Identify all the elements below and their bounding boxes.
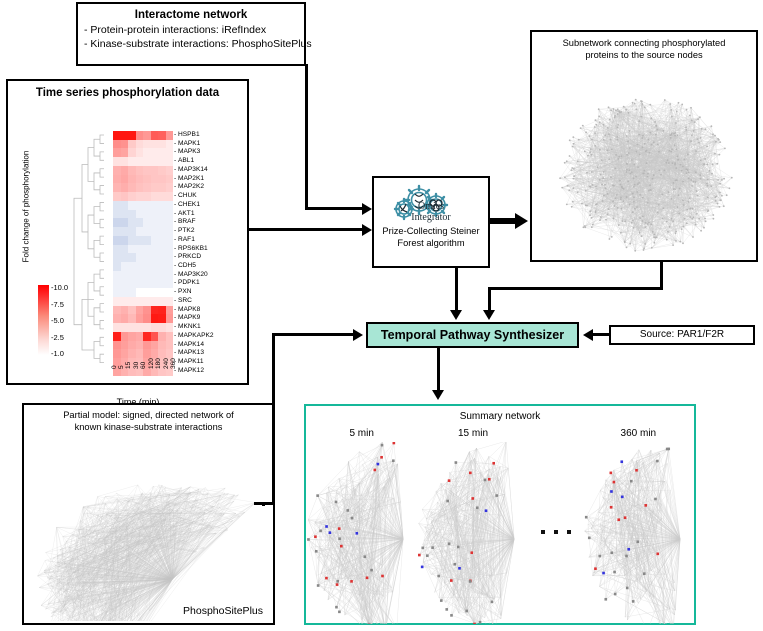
heatmap-cell	[151, 227, 158, 236]
heatmap-cell	[166, 306, 173, 315]
heatmap-cell	[143, 253, 150, 262]
heatmap-cell	[143, 131, 150, 140]
summary-panels: 5 min 15 min 360 min	[306, 426, 694, 623]
heatmap-cell	[113, 271, 120, 280]
heatmap-cell	[158, 192, 165, 201]
heatmap-row	[106, 262, 173, 271]
gene-label: -MAPK9	[174, 314, 244, 323]
heatmap-cell	[106, 271, 113, 280]
heatmap-cell	[166, 175, 173, 184]
connector-timeseries-to-omics	[249, 228, 367, 231]
heatmap-cell	[128, 218, 135, 227]
gene-label: -MAP2K2	[174, 183, 244, 192]
heatmap-cell	[136, 271, 143, 280]
heatmap-cell	[106, 236, 113, 245]
heatmap-cell	[136, 175, 143, 184]
timepoint-network-graph	[306, 442, 417, 624]
heatmap-cell	[158, 183, 165, 192]
heatmap-cell	[128, 192, 135, 201]
heatmap-cell	[113, 192, 120, 201]
connector-source-to-tps	[592, 333, 610, 336]
heatmap-cell	[143, 236, 150, 245]
heatmap-cell	[121, 157, 128, 166]
tps-label: Temporal Pathway Synthesizer	[368, 324, 577, 346]
heatmap-cell	[121, 218, 128, 227]
heatmap-cell	[158, 175, 165, 184]
heatmap-cell	[136, 288, 143, 297]
colorbar-tick: -1.0	[51, 349, 64, 358]
omics-integrator-logo-text: Omics Integrator	[374, 202, 488, 223]
subnetwork-caption-line1: Subnetwork connecting phosphorylated	[540, 38, 748, 50]
gene-label: -MAPK11	[174, 358, 244, 367]
heatmap-cell	[143, 306, 150, 315]
heatmap-cell	[166, 192, 173, 201]
heatmap-cell	[166, 183, 173, 192]
heatmap-cell	[143, 166, 150, 175]
heatmap-cell	[166, 323, 173, 332]
heatmap-cell	[121, 245, 128, 254]
gene-label: -SRC	[174, 297, 244, 306]
heatmap-cell	[128, 175, 135, 184]
heatmap-cell	[121, 192, 128, 201]
heatmap-cell	[136, 332, 143, 341]
gene-label: -RAF1	[174, 236, 244, 245]
heatmap-row	[106, 332, 173, 341]
heatmap-cell	[121, 288, 128, 297]
heatmap-cell	[143, 157, 150, 166]
ellipsis-dot	[541, 530, 545, 534]
heatmap-cell	[128, 236, 135, 245]
partial-model-caption-line1: Partial model: signed, directed network …	[32, 410, 265, 422]
heatmap-cell	[166, 227, 173, 236]
time-tick-label: 180	[155, 358, 162, 369]
heatmap-cell	[136, 253, 143, 262]
heatmap-cell	[136, 140, 143, 149]
gene-label: -CHEK1	[174, 201, 244, 210]
partial-model-box: Partial model: signed, directed network …	[22, 403, 275, 625]
heatmap-cell	[106, 253, 113, 262]
heatmap-cell	[166, 288, 173, 297]
heatmap-cell	[121, 201, 128, 210]
heatmap-cell	[128, 271, 135, 280]
heatmap-cell	[158, 245, 165, 254]
heatmap-cell	[158, 349, 165, 358]
heatmap-cell	[151, 148, 158, 157]
heatmap-cell	[113, 157, 120, 166]
heatmap-cell	[121, 175, 128, 184]
heatmap-cell	[128, 183, 135, 192]
interactome-network-box: Interactome network - Protein-protein in…	[76, 2, 306, 66]
heatmap-cell	[113, 314, 120, 323]
heatmap-row	[106, 227, 173, 236]
heatmap-cell	[128, 314, 135, 323]
subnetwork-box: Subnetwork connecting phosphorylated pro…	[530, 30, 758, 262]
heatmap-cell	[166, 166, 173, 175]
heatmap-row	[106, 175, 173, 184]
heatmap-cell	[158, 279, 165, 288]
heatmap-colorbar	[38, 285, 49, 355]
heatmap-cell	[136, 341, 143, 350]
heatmap-cell	[136, 166, 143, 175]
heatmap-row	[106, 323, 173, 332]
heatmap-cell	[166, 279, 173, 288]
heatmap-cell	[128, 297, 135, 306]
heatmap-cell	[151, 297, 158, 306]
subnetwork-caption-line2: proteins to the source nodes	[540, 50, 748, 62]
heatmap-cell	[106, 279, 113, 288]
summary-ellipsis	[529, 426, 583, 623]
heatmap-cell	[166, 314, 173, 323]
heatmap-cell	[143, 183, 150, 192]
gene-label: -MKNK1	[174, 323, 244, 332]
heatmap-row	[106, 166, 173, 175]
heatmap-cell	[143, 192, 150, 201]
connector-partial-to-tps-h2	[272, 333, 358, 336]
heatmap-cell	[106, 341, 113, 350]
heatmap-cell	[158, 131, 165, 140]
heatmap-cell	[136, 349, 143, 358]
heatmap-cell	[106, 166, 113, 175]
heatmap-cell	[121, 314, 128, 323]
heatmap-cell	[151, 253, 158, 262]
heatmap-cell	[113, 349, 120, 358]
summary-panel-15min: 15 min	[417, 426, 528, 623]
heatmap-row	[106, 349, 173, 358]
heatmap-row	[106, 218, 173, 227]
omics-logo-line1: Omics	[374, 202, 488, 213]
heatmap-cell	[166, 297, 173, 306]
heatmap-grid	[106, 131, 173, 367]
heatmap-cell	[106, 210, 113, 219]
heatmap-cell	[113, 288, 120, 297]
heatmap-cell	[128, 323, 135, 332]
timepoint-network-graph	[583, 442, 694, 624]
heatmap-cell	[143, 349, 150, 358]
gene-label: -PRKCD	[174, 253, 244, 262]
heatmap-cell	[128, 288, 135, 297]
heatmap-cell	[106, 314, 113, 323]
arrowhead-to-subnetwork	[515, 213, 528, 229]
heatmap-cell	[166, 201, 173, 210]
algorithm-line2: Forest algorithm	[374, 238, 488, 250]
subnetwork-hairball-graph	[532, 90, 760, 258]
summary-panel-360min: 360 min	[583, 426, 694, 623]
arrowhead-to-omics-upper	[362, 203, 372, 215]
heatmap-cell	[151, 306, 158, 315]
partial-model-graph	[24, 453, 270, 621]
panel-label: 15 min	[417, 428, 528, 439]
heatmap-cell	[113, 131, 120, 140]
heatmap-cell	[121, 306, 128, 315]
heatmap-cell	[136, 227, 143, 236]
heatmap-cell	[158, 323, 165, 332]
colorbar-tick: -7.5	[51, 300, 64, 309]
time-tick-label: 360	[170, 358, 177, 369]
partial-model-caption-line2: known kinase-substrate interactions	[32, 422, 265, 434]
heatmap-cell	[113, 227, 120, 236]
timepoint-network-graph	[417, 442, 528, 624]
heatmap-cell	[113, 148, 120, 157]
heatmap-cell	[143, 218, 150, 227]
heatmap-cell	[143, 332, 150, 341]
heatmap-cell	[166, 253, 173, 262]
heatmap-figure: Fold change of phosphorylation -10.0-7.5…	[8, 107, 247, 383]
heatmap-cell	[106, 192, 113, 201]
heatmap-cell	[113, 175, 120, 184]
interactome-item-ppi: - Protein-protein interactions: iRefInde…	[84, 24, 298, 38]
heatmap-cell	[128, 262, 135, 271]
heatmap-cell	[158, 306, 165, 315]
heatmap-cell	[113, 341, 120, 350]
time-tick-label: 5	[118, 365, 125, 369]
heatmap-cell	[136, 131, 143, 140]
heatmap-cell	[136, 323, 143, 332]
heatmap-cell	[106, 157, 113, 166]
heatmap-cell	[136, 245, 143, 254]
heatmap-cell	[128, 131, 135, 140]
heatmap-cell	[136, 236, 143, 245]
heatmap-cell	[166, 349, 173, 358]
heatmap-row	[106, 236, 173, 245]
gene-label: -CDH5	[174, 262, 244, 271]
heatmap-cell	[106, 262, 113, 271]
heatmap-cell	[151, 157, 158, 166]
gene-label: -RPS6KB1	[174, 245, 244, 254]
arrowhead-partial-to-tps	[353, 329, 363, 341]
heatmap-cell	[106, 323, 113, 332]
heatmap-cell	[158, 297, 165, 306]
heatmap-cell	[128, 157, 135, 166]
heatmap-cell	[166, 131, 173, 140]
heatmap-cell	[106, 332, 113, 341]
gene-label: -AKT1	[174, 210, 244, 219]
gene-label: -MAPK14	[174, 341, 244, 350]
source-label: Source: PAR1/F2R	[611, 327, 753, 343]
omics-integrator-box: Omics Integrator Prize-Collecting Steine…	[372, 176, 490, 268]
gene-label: -CHUK	[174, 192, 244, 201]
heatmap-cell	[158, 166, 165, 175]
heatmap-cell	[113, 332, 120, 341]
colorbar-tick: -10.0	[51, 283, 68, 292]
heatmap-cell	[143, 323, 150, 332]
heatmap-cell	[128, 148, 135, 157]
heatmap-cell	[106, 297, 113, 306]
heatmap-cell	[151, 271, 158, 280]
heatmap-cell	[113, 262, 120, 271]
heatmap-cell	[143, 140, 150, 149]
omics-integrator-logo: Omics Integrator	[374, 178, 488, 224]
heatmap-cell	[113, 245, 120, 254]
heatmap-cell	[151, 183, 158, 192]
heatmap-cell	[158, 314, 165, 323]
heatmap-cell	[136, 210, 143, 219]
heatmap-cell	[128, 201, 135, 210]
connector-omics-to-subnetwork	[490, 218, 518, 224]
source-box: Source: PAR1/F2R	[609, 325, 755, 345]
heatmap-cell	[121, 140, 128, 149]
connector-subnetwork-to-tps-h	[488, 287, 663, 290]
heatmap-row	[106, 297, 173, 306]
heatmap-row	[106, 306, 173, 315]
time-tick-label: 120	[148, 358, 155, 369]
heatmap-cell	[106, 245, 113, 254]
heatmap-cell	[166, 236, 173, 245]
arrowhead-tps-to-summary	[432, 390, 444, 400]
heatmap-row	[106, 314, 173, 323]
heatmap-cell	[113, 236, 120, 245]
heatmap-cell	[166, 157, 173, 166]
heatmap-row	[106, 279, 173, 288]
gene-label: -MAP3K14	[174, 166, 244, 175]
heatmap-cell	[113, 253, 120, 262]
heatmap-cell	[158, 262, 165, 271]
heatmap-cell	[158, 253, 165, 262]
heatmap-cell	[151, 314, 158, 323]
heatmap-cell	[158, 201, 165, 210]
gene-label: -BRAF	[174, 218, 244, 227]
heatmap-cell	[121, 332, 128, 341]
connector-subnetwork-to-tps-v1	[660, 262, 663, 289]
heatmap-cell	[158, 157, 165, 166]
interactome-item-kinase: - Kinase-substrate interactions: Phospho…	[84, 38, 298, 52]
heatmap-row	[106, 245, 173, 254]
heatmap-cell	[121, 210, 128, 219]
heatmap-cell	[128, 166, 135, 175]
heatmap-cell	[106, 349, 113, 358]
heatmap-cell	[158, 140, 165, 149]
heatmap-cell	[143, 210, 150, 219]
heatmap-row	[106, 148, 173, 157]
heatmap-cell	[121, 349, 128, 358]
heatmap-row	[106, 341, 173, 350]
heatmap-cell	[151, 288, 158, 297]
time-tick-label: 15	[125, 362, 132, 369]
time-series-box: Time series phosphorylation data Fold ch…	[6, 79, 249, 385]
gene-label: -MAPK1	[174, 140, 244, 149]
heatmap-cell	[166, 218, 173, 227]
heatmap-cell	[143, 148, 150, 157]
heatmap-cell	[106, 140, 113, 149]
heatmap-cell	[143, 245, 150, 254]
panel-label: 360 min	[583, 428, 694, 439]
heatmap-cell	[121, 236, 128, 245]
heatmap-cell	[136, 306, 143, 315]
connector-partial-to-tps-v	[272, 333, 275, 505]
heatmap-cell	[136, 218, 143, 227]
heatmap-cell	[166, 341, 173, 350]
heatmap-y-axis-label: Fold change of phosphorylation	[22, 147, 31, 267]
heatmap-cell	[113, 183, 120, 192]
heatmap-cell	[158, 148, 165, 157]
gene-label: -PXN	[174, 288, 244, 297]
heatmap-cell	[136, 183, 143, 192]
colorbar-tick: -5.0	[51, 316, 64, 325]
heatmap-cell	[121, 323, 128, 332]
gene-label: -MAPK3	[174, 148, 244, 157]
heatmap-cell	[151, 166, 158, 175]
heatmap-cell	[158, 341, 165, 350]
connector-tps-to-summary	[437, 348, 440, 392]
heatmap-gene-labels: -HSPB1-MAPK1-MAPK3-ABL1-MAP3K14-MAP2K1-M…	[174, 131, 244, 367]
heatmap-row	[106, 140, 173, 149]
heatmap-cell	[128, 332, 135, 341]
heatmap-cell	[106, 148, 113, 157]
heatmap-cell	[121, 341, 128, 350]
heatmap-cell	[166, 140, 173, 149]
heatmap-cell	[128, 306, 135, 315]
heatmap-cell	[136, 192, 143, 201]
heatmap-cell	[151, 236, 158, 245]
heatmap-cell	[158, 218, 165, 227]
heatmap-cell	[106, 288, 113, 297]
heatmap-cell	[128, 227, 135, 236]
ellipsis-dot	[554, 530, 558, 534]
heatmap-cell	[143, 227, 150, 236]
heatmap-cell	[151, 262, 158, 271]
heatmap-cell	[143, 175, 150, 184]
time-tick-label: 60	[140, 362, 147, 369]
heatmap-cell	[151, 245, 158, 254]
heatmap-row	[106, 192, 173, 201]
time-tick-label: 0	[111, 365, 118, 369]
temporal-pathway-synthesizer-box: Temporal Pathway Synthesizer	[366, 322, 579, 348]
arrowhead-omics-to-tps	[450, 310, 462, 320]
heatmap-cell	[121, 271, 128, 280]
heatmap-cell	[158, 227, 165, 236]
interactome-title: Interactome network	[84, 9, 298, 21]
heatmap-cell	[158, 271, 165, 280]
heatmap-cell	[106, 183, 113, 192]
heatmap-cell	[143, 271, 150, 280]
time-tick-label: 240	[163, 358, 170, 369]
gene-label: -MAP3K20	[174, 271, 244, 280]
heatmap-cell	[113, 279, 120, 288]
heatmap-cell	[151, 341, 158, 350]
heatmap-cell	[128, 253, 135, 262]
summary-panel-5min: 5 min	[306, 426, 417, 623]
heatmap-cell	[151, 279, 158, 288]
heatmap-cell	[121, 227, 128, 236]
gene-label: -MAPKAPK2	[174, 332, 244, 341]
phosphositeplus-label: PhosphoSitePlus	[183, 605, 263, 617]
heatmap-cell	[106, 201, 113, 210]
heatmap-cell	[136, 201, 143, 210]
heatmap-cell	[106, 218, 113, 227]
gene-label: -MAPK13	[174, 349, 244, 358]
time-series-title: Time series phosphorylation data	[8, 87, 247, 99]
heatmap-cell	[151, 332, 158, 341]
heatmap-cell	[106, 227, 113, 236]
connector-partial-to-tps-base	[254, 502, 275, 505]
heatmap-cell	[143, 341, 150, 350]
heatmap-row	[106, 201, 173, 210]
heatmap-cell	[166, 210, 173, 219]
heatmap-row	[106, 253, 173, 262]
heatmap-cell	[113, 166, 120, 175]
heatmap-cell	[113, 323, 120, 332]
gene-label: -MAP2K1	[174, 175, 244, 184]
heatmap-cell	[121, 262, 128, 271]
algorithm-line1: Prize-Collecting Steiner	[374, 226, 488, 238]
gene-label: -ABL1	[174, 157, 244, 166]
heatmap-cell	[151, 131, 158, 140]
heatmap-cell	[158, 236, 165, 245]
heatmap-cell	[128, 279, 135, 288]
heatmap-cell	[151, 210, 158, 219]
heatmap-cell	[128, 210, 135, 219]
connector-interactome-to-omics-h	[305, 207, 367, 210]
heatmap-cell	[121, 166, 128, 175]
